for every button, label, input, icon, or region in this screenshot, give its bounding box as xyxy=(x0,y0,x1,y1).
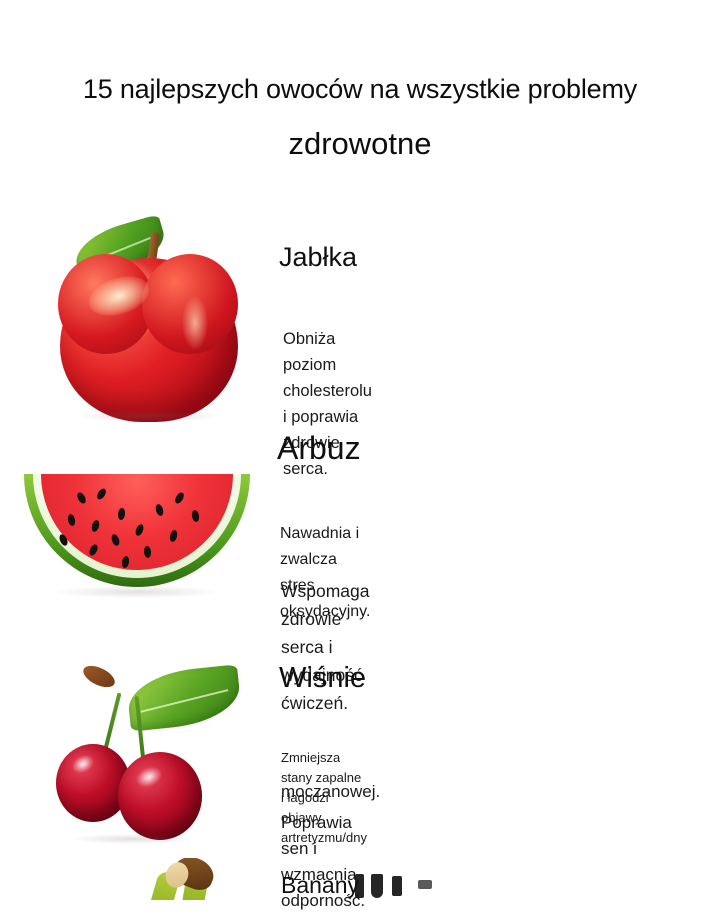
clipped-text-fragment xyxy=(355,874,364,898)
poster-page: 15 najlepszych owoców na wszystkie probl… xyxy=(0,0,720,900)
clipped-text-fragment xyxy=(371,874,383,898)
apple-illustration xyxy=(44,204,254,426)
watermelon-illustration xyxy=(24,474,250,606)
apple-drop-shadow xyxy=(78,410,220,422)
cherry-leaf-vein xyxy=(141,689,228,712)
page-title: 15 najlepszych owoców na wszystkie probl… xyxy=(0,72,720,164)
cherry-fruit-right xyxy=(118,752,202,840)
cherry-leaf-icon xyxy=(125,664,242,731)
cherry-stem-knob xyxy=(80,661,118,691)
clipped-text-fragment xyxy=(392,876,402,896)
heading-arbuz: Arbuz xyxy=(277,428,361,468)
cherries-illustration xyxy=(54,652,254,848)
page-title-line-1: 15 najlepszych owoców na wszystkie probl… xyxy=(0,72,720,106)
banana-illustration xyxy=(150,858,246,900)
description-wisnie-2: moczanowej. xyxy=(281,779,380,805)
apple-highlight-secondary xyxy=(182,296,208,350)
description-arbuz-2: Wspomaga zdrowie serca i wydajność ćwicz… xyxy=(281,577,370,717)
cherry-stem-left xyxy=(103,692,122,753)
heading-wisnie: Wiśnie xyxy=(279,660,366,696)
watermelon-drop-shadow xyxy=(54,586,220,598)
heading-banany: Banany xyxy=(281,871,359,899)
heading-jablka: Jabłka xyxy=(279,240,357,274)
clipped-text-fragment xyxy=(418,880,432,889)
cherries-drop-shadow xyxy=(70,834,194,844)
page-title-line-2: zdrowotne xyxy=(0,124,720,164)
